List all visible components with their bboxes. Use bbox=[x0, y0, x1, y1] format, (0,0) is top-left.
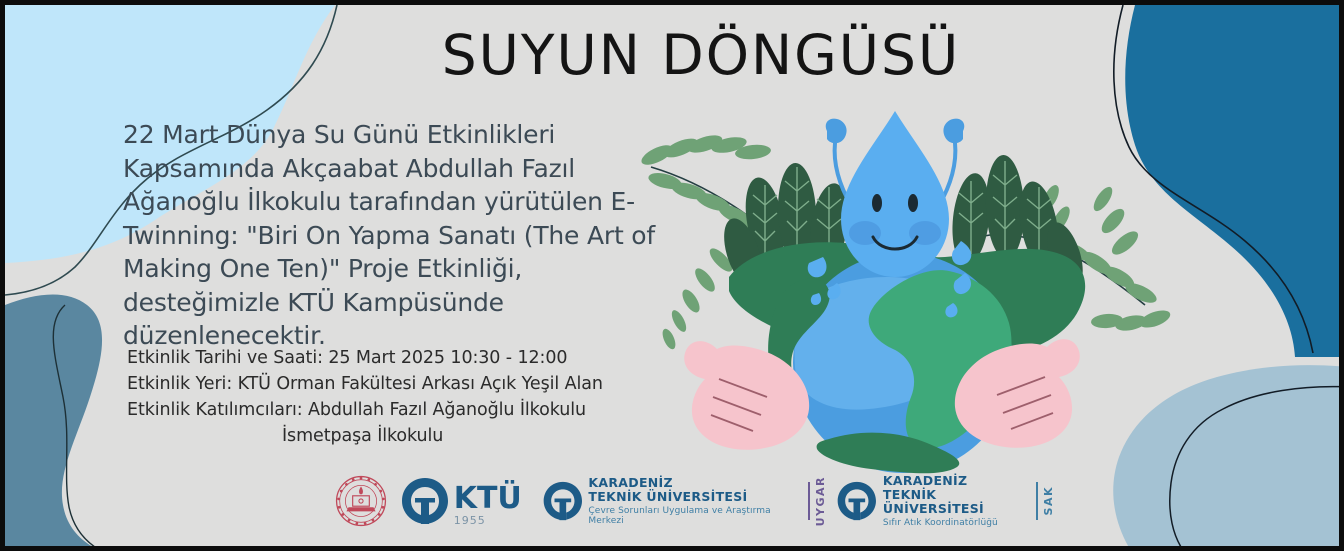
page-title: SUYUN DÖNGÜSÜ bbox=[29, 23, 1344, 87]
meb-logo bbox=[335, 475, 387, 527]
sak-divider-bar bbox=[1036, 482, 1038, 520]
cevre-merkezi-logo: KARADENİZ TEKNİK ÜNİVERSİTESİ Çevre Soru… bbox=[542, 476, 788, 526]
ktu-year-text: 1955 bbox=[454, 515, 486, 526]
event-location: Etkinlik Yeri: KTÜ Orman Fakültesi Arkas… bbox=[127, 371, 647, 397]
description-line: desteğimizle KTÜ Kampüsünde bbox=[123, 286, 613, 320]
description-line: Making One Ten)" Proje Etkinliği, bbox=[123, 252, 613, 286]
sifir-atik-line2: TEKNİK ÜNİVERSİTESİ bbox=[883, 488, 1027, 516]
description-line: Twinning: "Biri On Yapma Sanatı (The Art… bbox=[123, 219, 613, 253]
ktu-emblem-icon bbox=[836, 478, 878, 524]
event-participants: Etkinlik Katılımcıları: Abdullah Fazıl A… bbox=[127, 397, 647, 423]
uygar-mark: UYGAR bbox=[808, 479, 827, 523]
cevre-line1: KARADENİZ bbox=[588, 476, 788, 490]
uygar-divider-bar bbox=[808, 482, 810, 520]
sak-mark: SAK bbox=[1036, 479, 1055, 523]
ktu-logo: KTÜ 1955 bbox=[400, 476, 522, 526]
cevre-line2: TEKNİK ÜNİVERSİTESİ bbox=[588, 490, 788, 504]
text-content: SUYUN DÖNGÜSÜ 22 Mart Dünya Su Günü Etki… bbox=[5, 5, 1344, 551]
description-paragraph: 22 Mart Dünya Su Günü Etkinlikleri Kapsa… bbox=[123, 118, 613, 353]
description-line: 22 Mart Dünya Su Günü Etkinlikleri bbox=[123, 118, 613, 152]
logo-strip: KTÜ 1955 KARADENİZ TEKNİK ÜNİVERSİTESİ Ç… bbox=[335, 471, 1055, 531]
event-details: Etkinlik Tarihi ve Saati: 25 Mart 2025 1… bbox=[127, 345, 647, 449]
uygar-label: UYGAR bbox=[814, 476, 827, 526]
ktu-emblem-icon bbox=[400, 476, 450, 526]
ktu-wordmark-text: KTÜ bbox=[454, 484, 522, 514]
cevre-line3: Çevre Sorunları Uygulama ve Araştırma Me… bbox=[588, 506, 788, 526]
sak-label: SAK bbox=[1042, 486, 1055, 515]
poster-canvas: SUYUN DÖNGÜSÜ 22 Mart Dünya Su Günü Etki… bbox=[0, 0, 1344, 551]
description-line: Kapsamında Akçaabat Abdullah Fazıl bbox=[123, 152, 613, 186]
event-datetime: Etkinlik Tarihi ve Saati: 25 Mart 2025 1… bbox=[127, 345, 647, 371]
description-line: Ağanoğlu İlkokulu tarafından yürütülen E… bbox=[123, 185, 613, 219]
ktu-emblem-icon bbox=[542, 478, 584, 524]
sifir-atik-logo: KARADENİZ TEKNİK ÜNİVERSİTESİ Sıfır Atık… bbox=[836, 474, 1027, 528]
sifir-atik-line3: Sıfır Atık Koordinatörlüğü bbox=[883, 518, 1027, 528]
sifir-atik-line1: KARADENİZ bbox=[883, 474, 1027, 488]
event-participants-secondary: İsmetpaşa İlkokulu bbox=[127, 423, 647, 449]
meb-seal-icon bbox=[335, 475, 387, 527]
